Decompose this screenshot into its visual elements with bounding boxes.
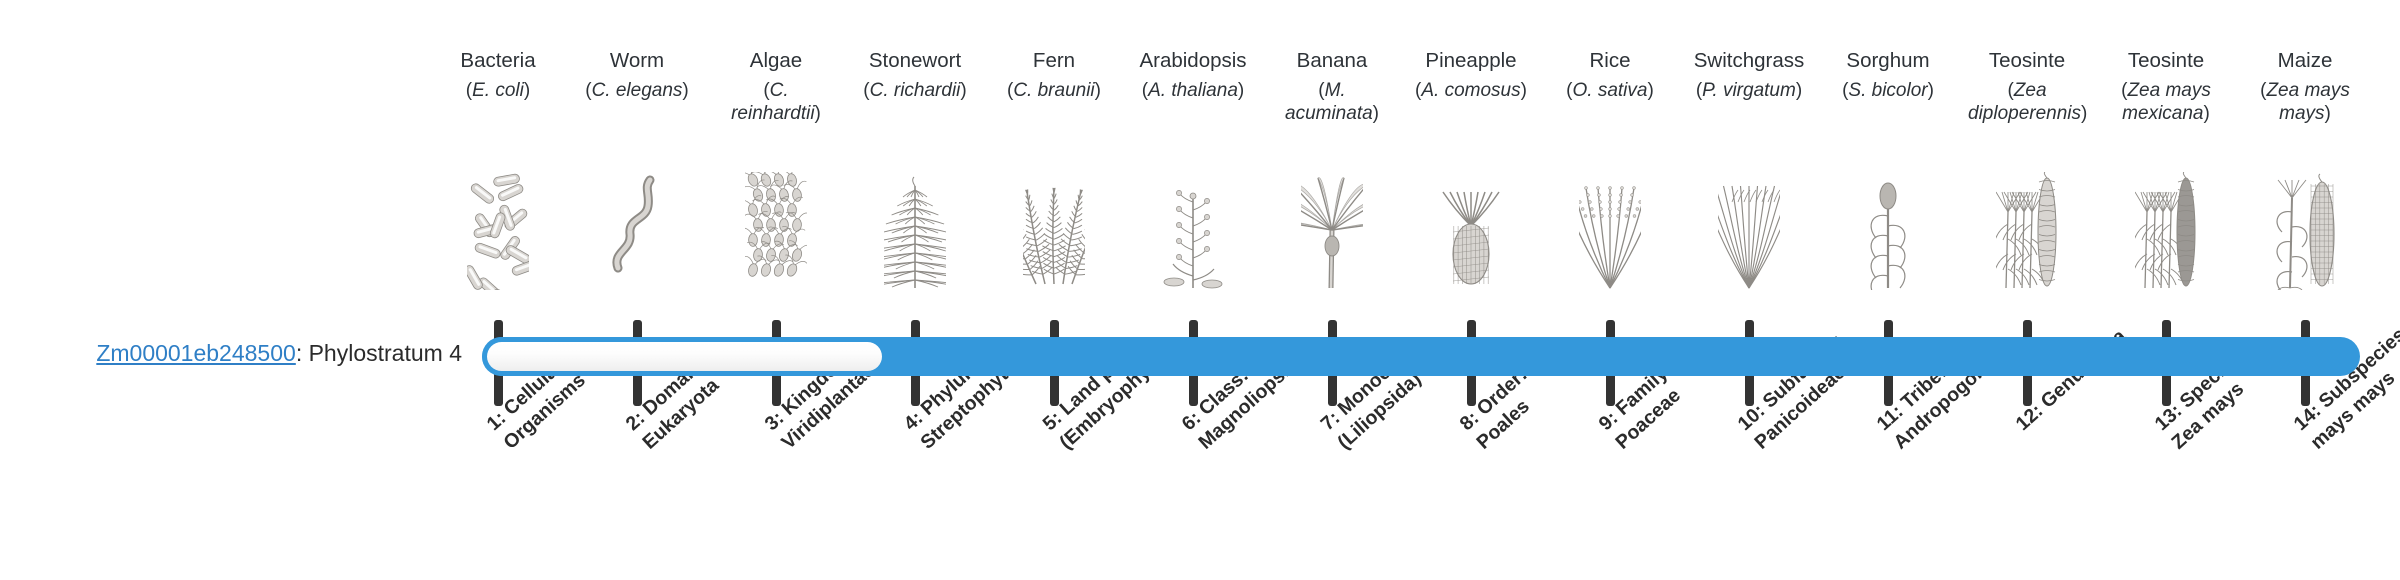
species-column-worm-2: Worm(C. elegans) <box>578 48 696 102</box>
species-column-algae-3: Algae(C. reinhardtii) <box>717 48 835 125</box>
species-column-bacteria-1: Bacteria(E. coli) <box>439 48 557 102</box>
species-column-stonewort-4: Stonewort(C. richardii) <box>856 48 974 102</box>
species-common-name: Switchgrass <box>1690 48 1808 73</box>
species-scientific-name: (Zea mays mexicana) <box>2107 79 2225 125</box>
fern-illustration <box>995 172 1113 290</box>
phylostratum-bar[interactable] <box>482 337 2360 376</box>
species-scientific-name: (Zea mays mays) <box>2246 79 2364 125</box>
species-scientific-name: (P. virgatum) <box>1690 79 1808 102</box>
species-scientific-name: (O. sativa) <box>1551 79 1669 102</box>
gene-phylostratum-text: Phylostratum 4 <box>309 340 462 366</box>
species-common-name: Stonewort <box>856 48 974 73</box>
species-common-name: Bacteria <box>439 48 557 73</box>
sorghum-illustration <box>1829 172 1947 290</box>
species-common-name: Arabidopsis <box>1134 48 1252 73</box>
species-column-arabidopsis-6: Arabidopsis(A. thaliana) <box>1134 48 1252 102</box>
worm-illustration <box>578 172 696 290</box>
species-column-pineapple-8: Pineapple(A. comosus) <box>1412 48 1530 102</box>
species-common-name: Worm <box>578 48 696 73</box>
phylostratum-timeline-figure: Zm00001eb248500: Phylostratum 4 Bacteria… <box>0 0 2400 580</box>
species-common-name: Teosinte <box>2107 48 2225 73</box>
maize-illustration <box>2246 172 2364 290</box>
rice-illustration <box>1551 172 1669 290</box>
species-column-banana-7: Banana(M. acuminata) <box>1273 48 1391 125</box>
stonewort-illustration <box>856 172 974 290</box>
species-column-teosinte-12: Teosinte(Zea diploperennis) <box>1968 48 2086 125</box>
species-common-name: Banana <box>1273 48 1391 73</box>
species-column-rice-9: Rice(O. sativa) <box>1551 48 1669 102</box>
species-common-name: Teosinte <box>1968 48 2086 73</box>
gene-phylostratum-label: Zm00001eb248500: Phylostratum 4 <box>42 339 462 367</box>
species-common-name: Maize <box>2246 48 2364 73</box>
species-common-name: Sorghum <box>1829 48 1947 73</box>
switchgrass-illustration <box>1690 172 1808 290</box>
species-scientific-name: (C. reinhardtii) <box>717 79 835 125</box>
phylostratum-bar-unfilled <box>482 337 882 376</box>
species-scientific-name: (C. richardii) <box>856 79 974 102</box>
species-scientific-name: (A. thaliana) <box>1134 79 1252 102</box>
species-column-fern-5: Fern(C. braunii) <box>995 48 1113 102</box>
species-common-name: Algae <box>717 48 835 73</box>
teosinte-mexicana-illustration <box>2107 172 2225 290</box>
species-common-name: Fern <box>995 48 1113 73</box>
species-scientific-name: (E. coli) <box>439 79 557 102</box>
species-scientific-name: (A. comosus) <box>1412 79 1530 102</box>
species-common-name: Rice <box>1551 48 1669 73</box>
species-column-sorghum-11: Sorghum(S. bicolor) <box>1829 48 1947 102</box>
species-column-teosinte-13: Teosinte(Zea mays mexicana) <box>2107 48 2225 125</box>
species-scientific-name: (S. bicolor) <box>1829 79 1947 102</box>
species-scientific-name: (C. braunii) <box>995 79 1113 102</box>
species-column-maize-14: Maize(Zea mays mays) <box>2246 48 2364 125</box>
gene-id-link[interactable]: Zm00001eb248500 <box>96 340 296 366</box>
species-scientific-name: (C. elegans) <box>578 79 696 102</box>
pineapple-illustration <box>1412 172 1530 290</box>
banana-illustration <box>1273 172 1391 290</box>
bacteria-illustration <box>439 172 557 290</box>
phylostratum-bar-unfilled-inner <box>487 342 882 371</box>
algae-illustration <box>717 172 835 290</box>
species-scientific-name: (M. acuminata) <box>1273 79 1391 125</box>
species-common-name: Pineapple <box>1412 48 1530 73</box>
species-column-switchgrass-10: Switchgrass(P. virgatum) <box>1690 48 1808 102</box>
gene-label-separator: : <box>296 340 309 366</box>
teosinte-diploperennis-illustration <box>1968 172 2086 290</box>
species-scientific-name: (Zea diploperennis) <box>1968 79 2086 125</box>
arabidopsis-illustration <box>1134 172 1252 290</box>
